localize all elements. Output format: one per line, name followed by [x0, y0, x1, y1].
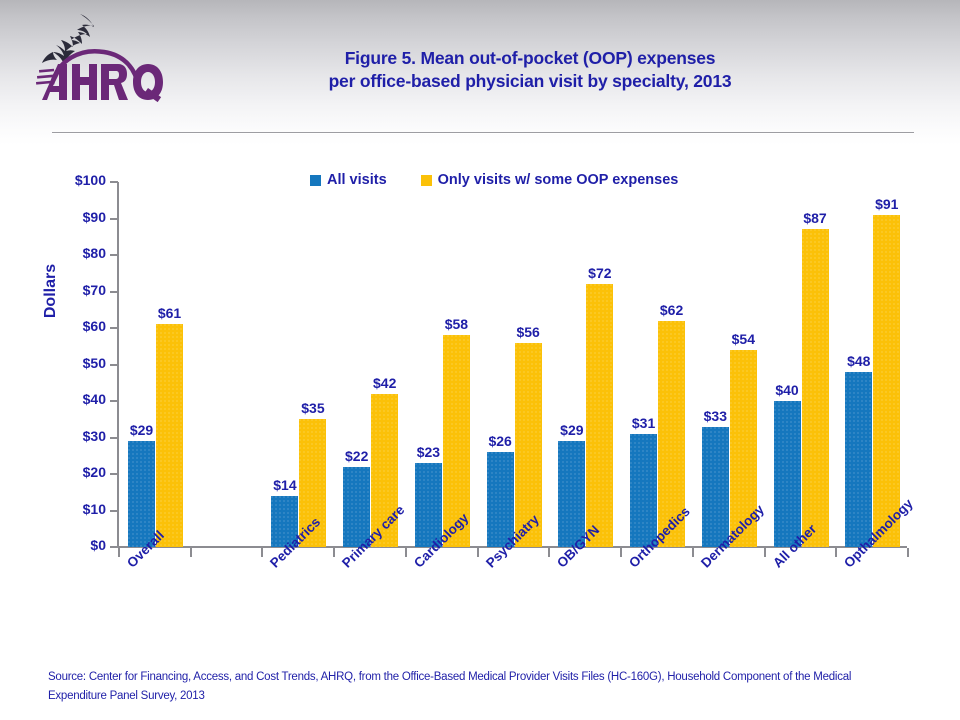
bar-oop-visits[interactable]: $72	[586, 284, 613, 547]
bar-group: $23$58	[405, 182, 477, 547]
x-tick-mark	[261, 548, 263, 557]
y-tick-label: $20	[83, 464, 106, 480]
bar-group: $14$35	[261, 182, 333, 547]
y-tick-mark	[110, 437, 118, 439]
bar-all-visits[interactable]: $33	[702, 427, 729, 547]
y-tick-label: $90	[83, 209, 106, 225]
bar-all-visits[interactable]: $48	[845, 372, 872, 547]
bar-value-label: $22	[345, 448, 368, 464]
bar-group	[190, 182, 262, 547]
y-tick-label: $30	[83, 428, 106, 444]
bar-value-label: $91	[875, 196, 898, 212]
source-note: Source: Center for Financing, Access, an…	[48, 668, 908, 706]
bar-group: $48$91	[835, 182, 907, 547]
x-tick-mark	[190, 548, 192, 557]
y-axis-title: Dollars	[42, 264, 60, 318]
bar-group: $29$61	[118, 182, 190, 547]
x-tick-mark	[548, 548, 550, 557]
bar-value-label: $31	[632, 415, 655, 431]
bar-value-label: $42	[373, 375, 396, 391]
bar-value-label: $87	[803, 210, 826, 226]
bar-value-label: $48	[847, 353, 870, 369]
plot-area: $0$10$20$30$40$50$60$70$80$90$100 $29$61…	[118, 182, 907, 547]
y-tick-mark	[110, 510, 118, 512]
y-tick-mark	[110, 181, 118, 183]
y-tick-label: $0	[90, 537, 106, 553]
bar-value-label: $35	[301, 400, 324, 416]
x-tick-mark	[764, 548, 766, 557]
bar-value-label: $61	[158, 305, 181, 321]
bar-all-visits[interactable]: $40	[774, 401, 801, 547]
bar-value-label: $58	[445, 316, 468, 332]
y-tick-label: $70	[83, 282, 106, 298]
x-tick-mark	[835, 548, 837, 557]
y-tick-mark	[110, 218, 118, 220]
x-tick-mark	[907, 548, 909, 557]
bar-oop-visits[interactable]: $91	[873, 215, 900, 547]
y-tick-mark	[110, 546, 118, 548]
x-tick-mark	[405, 548, 407, 557]
bar-value-label: $23	[417, 444, 440, 460]
bar-group: $40$87	[764, 182, 836, 547]
bar-oop-visits[interactable]: $61	[156, 324, 183, 547]
y-tick-label: $40	[83, 391, 106, 407]
bar-value-label: $56	[516, 324, 539, 340]
bar-chart: All visits Only visits w/ some OOP expen…	[0, 0, 960, 660]
bar-value-label: $29	[560, 422, 583, 438]
bar-value-label: $26	[488, 433, 511, 449]
y-tick-mark	[110, 400, 118, 402]
bar-value-label: $54	[732, 331, 755, 347]
y-tick-label: $10	[83, 501, 106, 517]
bar-value-label: $14	[273, 477, 296, 493]
x-tick-mark	[333, 548, 335, 557]
bar-group: $22$42	[333, 182, 405, 547]
bar-value-label: $33	[704, 408, 727, 424]
bar-oop-visits[interactable]: $87	[802, 229, 829, 547]
y-tick-mark	[110, 364, 118, 366]
bar-group: $31$62	[620, 182, 692, 547]
x-tick-mark	[692, 548, 694, 557]
y-tick-mark	[110, 327, 118, 329]
x-tick-mark	[477, 548, 479, 557]
x-tick-mark	[118, 548, 120, 557]
y-tick-label: $100	[75, 172, 106, 188]
bar-value-label: $40	[775, 382, 798, 398]
x-tick-mark	[620, 548, 622, 557]
bar-value-label: $29	[130, 422, 153, 438]
bar-all-visits[interactable]: $31	[630, 434, 657, 547]
bar-value-label: $62	[660, 302, 683, 318]
y-tick-mark	[110, 254, 118, 256]
bar-group: $26$56	[477, 182, 549, 547]
y-tick-mark	[110, 291, 118, 293]
y-tick-label: $50	[83, 355, 106, 371]
y-tick-mark	[110, 473, 118, 475]
y-tick-label: $80	[83, 245, 106, 261]
y-tick-label: $60	[83, 318, 106, 334]
bar-value-label: $72	[588, 265, 611, 281]
bar-group: $33$54	[692, 182, 764, 547]
bar-group: $29$72	[548, 182, 620, 547]
